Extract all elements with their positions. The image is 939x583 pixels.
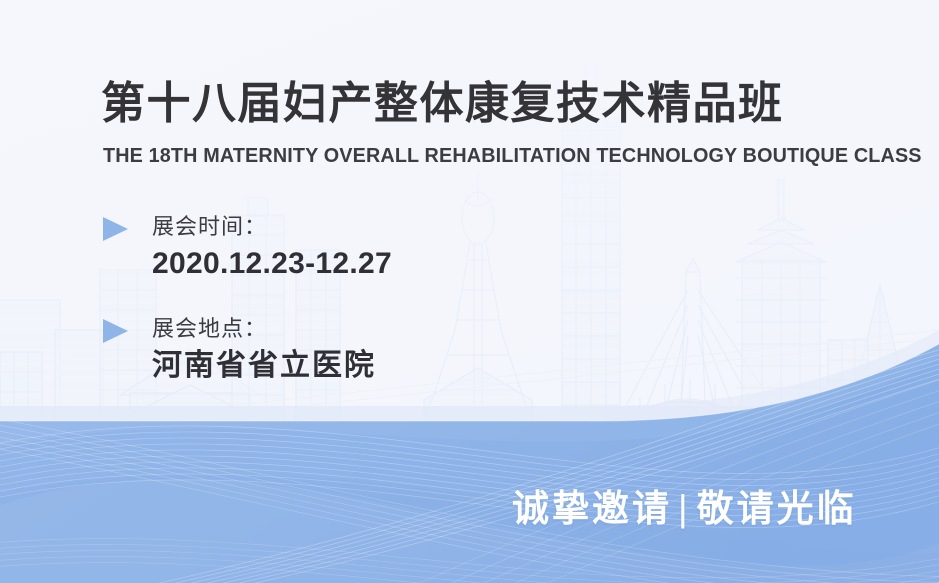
- triangle-right-icon: [103, 319, 128, 343]
- event-info-block: 展会时间： 2020.12.23-12.27 展会地点： 河南省省立医院: [103, 212, 533, 386]
- triangle-right-icon: [103, 217, 128, 241]
- event-date-label: 展会时间：: [152, 212, 533, 242]
- page-subtitle: THE 18TH MATERNITY OVERALL REHABILITATIO…: [103, 144, 922, 168]
- event-location-label: 展会地点：: [152, 314, 533, 344]
- invitation-right: 敬请光临: [697, 488, 857, 529]
- event-location-row: 展会地点： 河南省省立医院: [103, 314, 533, 386]
- invitation-text: 诚挚邀请|敬请光临: [512, 478, 857, 532]
- event-poster: 第十八届妇产整体康复技术精品班 THE 18TH MATERNITY OVERA…: [0, 0, 939, 583]
- invitation-separator: |: [672, 488, 697, 530]
- event-location-value: 河南省省立医院: [152, 346, 533, 386]
- poster-content: 第十八届妇产整体康复技术精品班 THE 18TH MATERNITY OVERA…: [0, 0, 939, 583]
- page-title: 第十八届妇产整体康复技术精品班: [101, 79, 784, 128]
- invitation-left: 诚挚邀请: [512, 488, 672, 529]
- event-date-value: 2020.12.23-12.27: [152, 244, 533, 284]
- event-date-row: 展会时间： 2020.12.23-12.27: [103, 212, 533, 284]
